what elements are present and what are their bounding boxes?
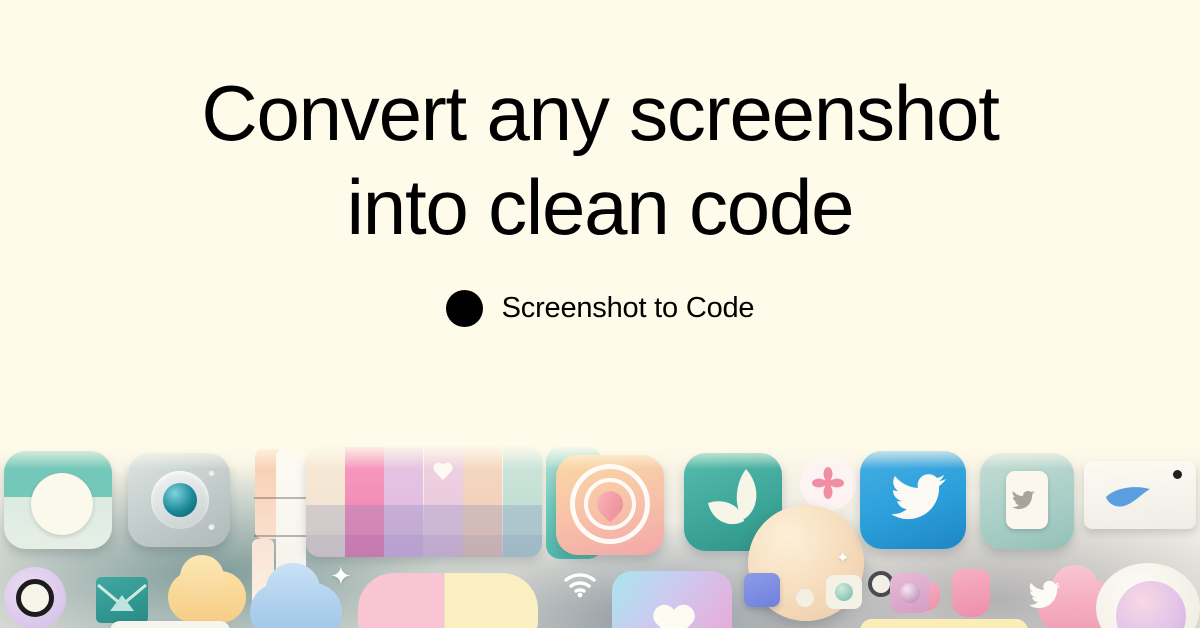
- purple-app-icon: [890, 573, 930, 613]
- pink-tag-icon: [952, 569, 990, 617]
- blue-bird-icon: [1102, 483, 1154, 509]
- white-circle-shape: [31, 473, 93, 535]
- yellow-cloud-icon: [168, 571, 246, 623]
- heart-icon: [432, 461, 454, 481]
- app-icon-collage-band: ✦ ✦: [0, 443, 1200, 628]
- camera-ring-shape: [151, 471, 209, 529]
- teal-split-tile-icon: [4, 451, 112, 549]
- ring-shape: [16, 579, 54, 617]
- pink-yellow-tile-icon: [358, 573, 538, 628]
- page-title: Convert any screenshot into clean code: [201, 66, 998, 254]
- white-card-shape: [1006, 471, 1048, 529]
- brand-row: Screenshot to Code: [446, 290, 755, 327]
- gradient-heart-tile-icon: [612, 571, 732, 628]
- app-glyph-shape: [900, 583, 920, 603]
- og-card: Convert any screenshot into clean code S…: [0, 0, 1200, 628]
- flower-shape: [812, 467, 844, 499]
- blue-cloud-icon: [250, 583, 342, 628]
- divider-line: [254, 535, 306, 537]
- small-lens-shape: [835, 583, 853, 601]
- hero-section: Convert any screenshot into clean code S…: [0, 0, 1200, 443]
- card-dot-shape: [1173, 470, 1182, 479]
- pink-sphere-shape: [1116, 581, 1186, 628]
- white-card-bird-icon: [1084, 461, 1196, 529]
- camera-flash-dot: [208, 469, 215, 476]
- sparkle-icon: ✦: [836, 551, 849, 567]
- small-camera-icon: [826, 575, 862, 609]
- wifi-icon: [562, 571, 598, 597]
- camera-sensor-dot: [208, 523, 215, 530]
- location-pin-icon: [556, 455, 664, 555]
- white-box-icon: [110, 621, 230, 628]
- sparkle-icon: ✦: [330, 563, 352, 589]
- divider-line: [254, 497, 306, 499]
- grid-row-overlay: [306, 535, 542, 557]
- envelope-icon: [96, 577, 148, 623]
- brand-name: Screenshot to Code: [502, 294, 755, 323]
- pastel-palette-grid-icon: [306, 447, 542, 557]
- pink-sphere-plate-icon: [1096, 563, 1200, 628]
- yellow-bar-icon: [860, 619, 1028, 628]
- heart-icon: [652, 603, 696, 628]
- twitter-bird-icon: [860, 451, 966, 549]
- flower-icon: [800, 455, 856, 511]
- camera-icon: [128, 453, 230, 547]
- blue-square-icon: [744, 573, 780, 607]
- camera-lens-shape: [163, 483, 197, 517]
- small-dot-icon: [796, 589, 814, 607]
- white-bird-icon: [1010, 575, 1070, 623]
- lavender-ring-icon: [4, 567, 66, 628]
- grid-row-overlay: [306, 505, 542, 535]
- mint-card-icon: [980, 453, 1074, 549]
- black-circle-logo-icon: [446, 290, 483, 327]
